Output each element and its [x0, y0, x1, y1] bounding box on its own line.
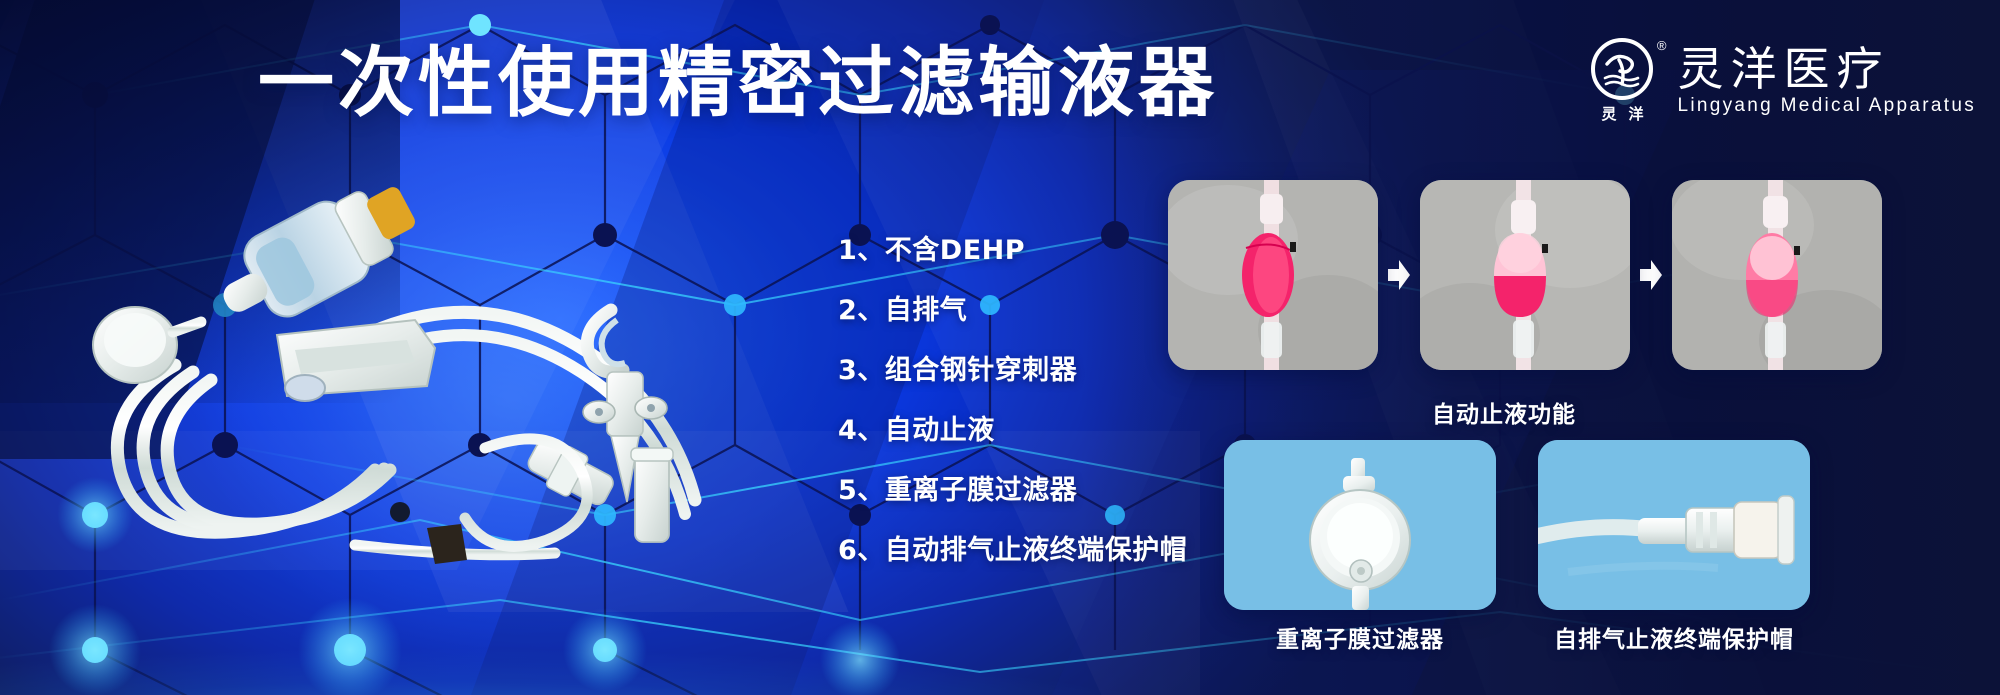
- feature-item: 4、自动止液: [838, 408, 1187, 447]
- auto-stop-photo-row: [1168, 180, 1882, 370]
- brand-name-cn: 灵洋医疗: [1677, 45, 1976, 93]
- auto-stop-caption-wrap: 自动止液功能: [1168, 395, 1840, 429]
- photo-tile-autostop-2: [1420, 180, 1630, 370]
- feature-item: 1、不含DEHP: [838, 228, 1187, 267]
- brand-mark: ® 灵洋: [1589, 38, 1655, 124]
- feature-item: 5、重离子膜过滤器: [838, 468, 1187, 507]
- right-arrow-icon: [1638, 258, 1664, 292]
- brand-name-en: Lingyang Medical Apparatus: [1677, 96, 1976, 117]
- page-title: 一次性使用精密过滤输液器: [258, 45, 1218, 121]
- registered-mark: ®: [1657, 39, 1667, 52]
- photo-tile-terminal-cap: [1538, 440, 1810, 610]
- feature-item: 6、自动排气止液终端保护帽: [838, 528, 1187, 567]
- heavy-ion-filter-caption: 重离子膜过滤器: [1276, 627, 1444, 653]
- feature-list: 1、不含DEHP 2、自排气 3、组合钢针穿刺器 4、自动止液 5、重离子膜过滤…: [838, 228, 1187, 567]
- needle-wing-part: [355, 502, 555, 564]
- banner-root: 一次性使用精密过滤输液器 ® 灵洋 灵洋医疗 Lingyang Medical …: [0, 0, 2000, 695]
- feature-item: 3、组合钢针穿刺器: [838, 348, 1187, 387]
- component-photo-row: [1224, 440, 1810, 610]
- photo-tile-autostop-3: [1672, 180, 1882, 370]
- protective-cap-part: [631, 448, 673, 542]
- feature-item: 2、自排气: [838, 288, 1187, 327]
- product-photo: [55, 150, 825, 570]
- arrow-gap-2: [1630, 258, 1672, 292]
- lingyang-circular-emblem-icon: ®: [1591, 38, 1653, 100]
- right-arrow-icon: [1386, 258, 1412, 292]
- photo-tile-autostop-1: [1168, 180, 1378, 370]
- auto-stop-caption: 自动止液功能: [1168, 395, 1840, 429]
- component-caption-row: 重离子膜过滤器 自排气止液终端保护帽: [1224, 620, 1810, 654]
- photo-tile-heavy-ion-filter: [1224, 440, 1496, 610]
- roller-clamp-part: [277, 320, 435, 401]
- brand-text: 灵洋医疗 Lingyang Medical Apparatus: [1677, 45, 1976, 116]
- brand-mark-label: 灵洋: [1589, 103, 1655, 124]
- luer-connector-part: [522, 433, 620, 514]
- drip-chamber-part: [205, 167, 428, 341]
- brand-logo: ® 灵洋 灵洋医疗 Lingyang Medical Apparatus: [1589, 38, 1976, 124]
- terminal-cap-caption: 自排气止液终端保护帽: [1554, 627, 1794, 653]
- arrow-gap-1: [1378, 258, 1420, 292]
